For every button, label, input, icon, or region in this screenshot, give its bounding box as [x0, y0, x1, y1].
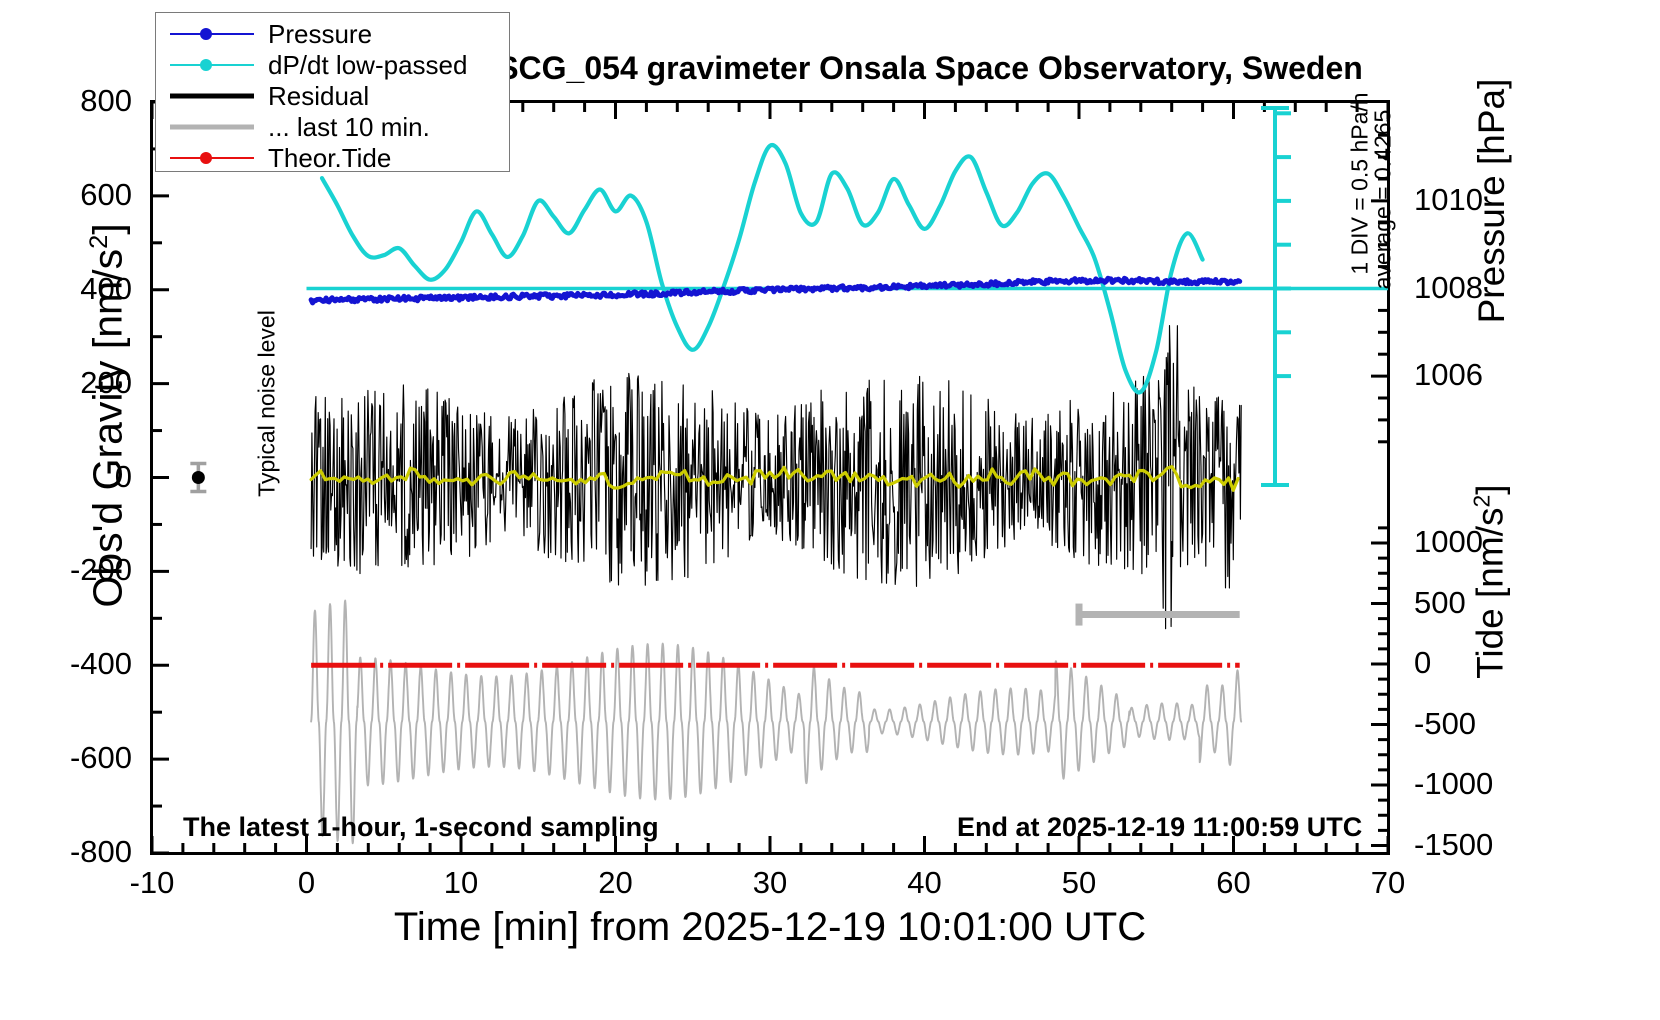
x-tick-10: 10	[401, 865, 521, 901]
legend-line-swatch	[170, 33, 254, 35]
legend-line-swatch	[170, 125, 254, 130]
x-tick-30: 30	[710, 865, 830, 901]
legend-item-0[interactable]: Pressure	[156, 19, 509, 49]
y-tick-left-0: 0	[12, 459, 132, 495]
legend-label: ... last 10 min.	[268, 112, 430, 143]
y-tick-left-600: 600	[12, 177, 132, 213]
legend-marker-dot	[200, 152, 212, 164]
chart-page: SCG_054 gravimeter Onsala Space Observat…	[0, 0, 1660, 1020]
chart-title: SCG_054 gravimeter Onsala Space Observat…	[430, 50, 1430, 87]
x-tick-50: 50	[1019, 865, 1139, 901]
y-tick-left--600: -600	[12, 740, 132, 776]
legend-item-4[interactable]: Theor.Tide	[156, 143, 509, 173]
y-axis-right-tide-title-end: ]	[1470, 484, 1511, 494]
legend-key-icon	[170, 82, 254, 110]
legend-key-icon	[170, 51, 254, 79]
y-axis-left-title-end: ]	[85, 223, 131, 234]
x-axis-title: Time [min] from 2025-12-19 10:01:00 UTC	[150, 905, 1390, 950]
y-tick-left--400: -400	[12, 646, 132, 682]
x-tick-70: 70	[1328, 865, 1448, 901]
x-tick-0: 0	[247, 865, 367, 901]
legend-line-swatch	[170, 64, 254, 66]
plot-area	[150, 100, 1390, 855]
y-tick-left-200: 200	[12, 365, 132, 401]
legend-marker-dot	[200, 59, 212, 71]
dpdt-average-label: average = 0.4265	[1370, 55, 1397, 345]
y-tick-left--200: -200	[12, 552, 132, 588]
y-tick-pressure-1010: 1010	[1414, 182, 1554, 218]
y-tick-pressure-1008: 1008	[1414, 270, 1554, 306]
legend-key-icon	[170, 113, 254, 141]
legend-marker-dot	[200, 28, 212, 40]
x-tick-40: 40	[865, 865, 985, 901]
x-tick-60: 60	[1174, 865, 1294, 901]
y-tick-pressure-1006: 1006	[1414, 357, 1554, 393]
y-tick-tide-0: 0	[1414, 645, 1554, 681]
legend-label: Residual	[268, 81, 369, 112]
legend-item-1[interactable]: dP/dt low-passed	[156, 50, 509, 80]
y-tick-tide--1500: -1500	[1414, 827, 1554, 863]
x-tick--10: -10	[92, 865, 212, 901]
y-tick-tide-1000: 1000	[1414, 524, 1554, 560]
legend-item-2[interactable]: Residual	[156, 81, 509, 111]
legend-line-swatch	[170, 157, 254, 159]
y-tick-tide-500: 500	[1414, 585, 1554, 621]
y-axis-left-title-sup: 2	[85, 235, 113, 249]
legend-line-swatch	[170, 94, 254, 99]
legend-label: Theor.Tide	[268, 143, 391, 174]
typical-noise-level-label: Typical noise level	[254, 274, 281, 534]
legend-key-icon	[170, 20, 254, 48]
legend-key-icon	[170, 144, 254, 172]
y-tick-tide--500: -500	[1414, 706, 1554, 742]
y-tick-tide--1000: -1000	[1414, 766, 1554, 802]
y-tick-left-800: 800	[12, 83, 132, 119]
y-tick-left-400: 400	[12, 271, 132, 307]
chart-legend: PressuredP/dt low-passedResidual... last…	[155, 12, 510, 172]
footer-sampling-note: The latest 1-hour, 1-second sampling	[183, 812, 659, 843]
legend-label: dP/dt low-passed	[268, 50, 467, 81]
legend-item-3[interactable]: ... last 10 min.	[156, 112, 509, 142]
footer-end-time: End at 2025-12-19 11:00:59 UTC	[957, 812, 1362, 843]
legend-label: Pressure	[268, 19, 372, 50]
y-axis-right-tide-title-sup: 2	[1468, 495, 1494, 508]
x-tick-20: 20	[556, 865, 676, 901]
